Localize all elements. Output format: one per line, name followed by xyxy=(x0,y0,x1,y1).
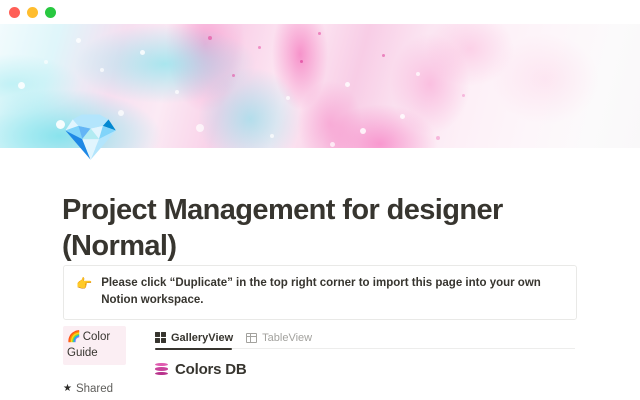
tab-gallery-view[interactable]: GalleryView xyxy=(155,328,233,347)
database-views: GalleryView TableView xyxy=(155,328,580,347)
active-tab-underline xyxy=(155,348,232,350)
maximize-button[interactable] xyxy=(45,7,56,18)
table-icon xyxy=(246,333,257,343)
shared-label: Shared xyxy=(76,381,113,397)
page-title: Project Management for designer (Normal) xyxy=(62,192,582,264)
database-title[interactable]: Colors DB xyxy=(155,361,247,378)
shared-row[interactable]: ★ Shared xyxy=(63,381,149,397)
callout-text: Please click “Duplicate” in the top righ… xyxy=(101,275,562,309)
tab-table-view-label: TableView xyxy=(262,332,312,344)
callout-block[interactable]: 👉 Please click “Duplicate” in the top ri… xyxy=(63,265,577,320)
page-body: Project Management for designer (Normal)… xyxy=(0,148,640,400)
app-window: 💎 Project Management for designer (Norma… xyxy=(0,0,640,400)
tab-gallery-view-label: GalleryView xyxy=(171,332,233,344)
pointing-right-emoji-icon: 👉 xyxy=(76,275,92,292)
grid-icon xyxy=(155,332,166,343)
diamond-emoji-icon[interactable]: 💎 xyxy=(62,112,120,162)
minimize-button[interactable] xyxy=(27,7,38,18)
database-name: Colors DB xyxy=(175,361,247,378)
database-icon xyxy=(155,362,168,377)
window-titlebar xyxy=(0,0,640,24)
view-tab-list: GalleryView TableView xyxy=(155,328,580,347)
rainbow-emoji-icon: 🌈 xyxy=(67,331,81,343)
sidebar-item-color-guide[interactable]: 🌈Color Guide xyxy=(63,326,126,365)
star-icon: ★ xyxy=(63,381,72,397)
close-button[interactable] xyxy=(9,7,20,18)
left-column: 🌈Color Guide ★ Shared xyxy=(63,326,149,397)
traffic-lights xyxy=(9,7,56,18)
content-lower-region: 🌈Color Guide ★ Shared GalleryView xyxy=(0,326,640,400)
tab-table-view[interactable]: TableView xyxy=(246,328,312,347)
